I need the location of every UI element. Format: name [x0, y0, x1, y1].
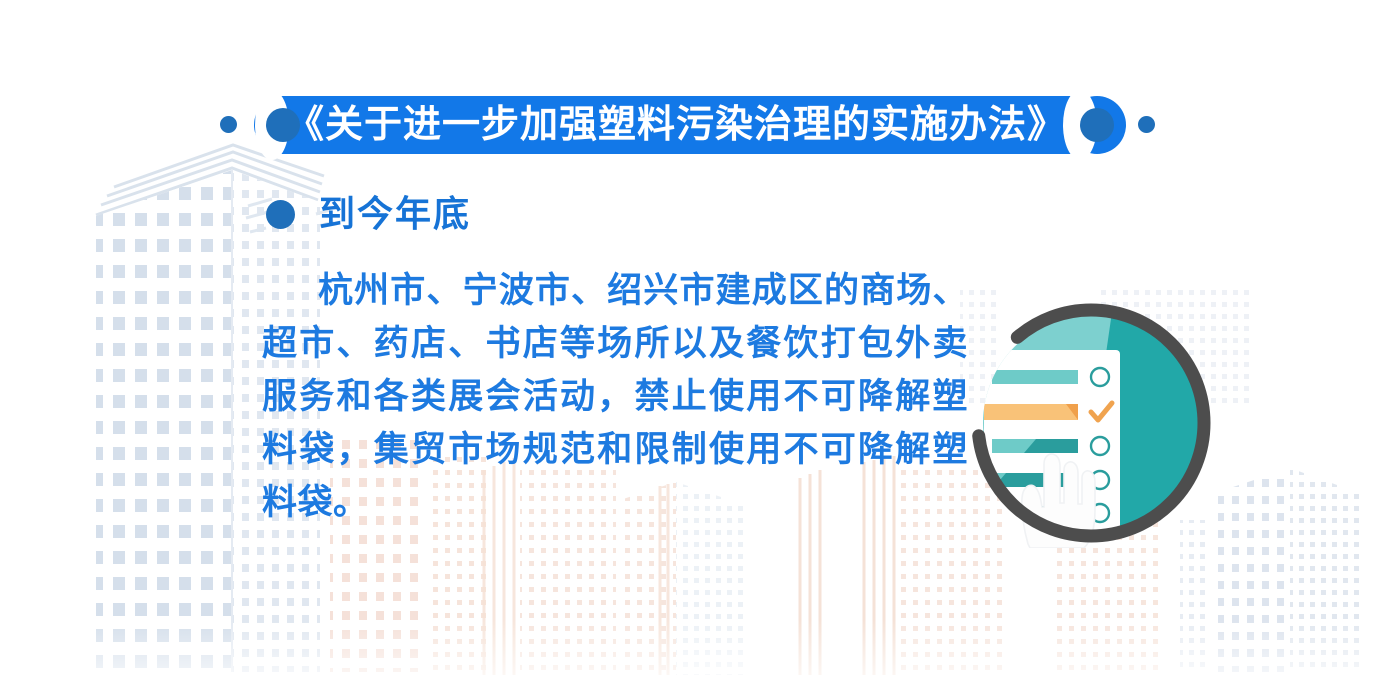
- subtitle-row: 到今年底: [266, 196, 471, 232]
- banner-dot-right-icon: [1138, 116, 1155, 133]
- infographic-poster: 《关于进一步加强塑料污染治理的实施办法》 到今年底 杭州市、宁波市、绍兴市建成区…: [0, 0, 1400, 700]
- title-banner: 《关于进一步加强塑料污染治理的实施办法》: [0, 96, 1400, 160]
- banner-dot-left-icon: [220, 116, 237, 133]
- body-paragraph: 杭州市、宁波市、绍兴市建成区的商场、超市、药店、书店等场所以及餐饮打包外卖服务和…: [262, 264, 968, 529]
- subtitle-label: 到今年底: [319, 196, 471, 232]
- page-title: 《关于进一步加强塑料污染治理的实施办法》: [286, 106, 1066, 144]
- bullet-dot-icon: [266, 200, 295, 229]
- checklist-circle-illustration: [966, 298, 1216, 548]
- banner-bar: 《关于进一步加强塑料污染治理的实施办法》: [272, 96, 1080, 154]
- banner-knob-right-icon: [1080, 108, 1114, 142]
